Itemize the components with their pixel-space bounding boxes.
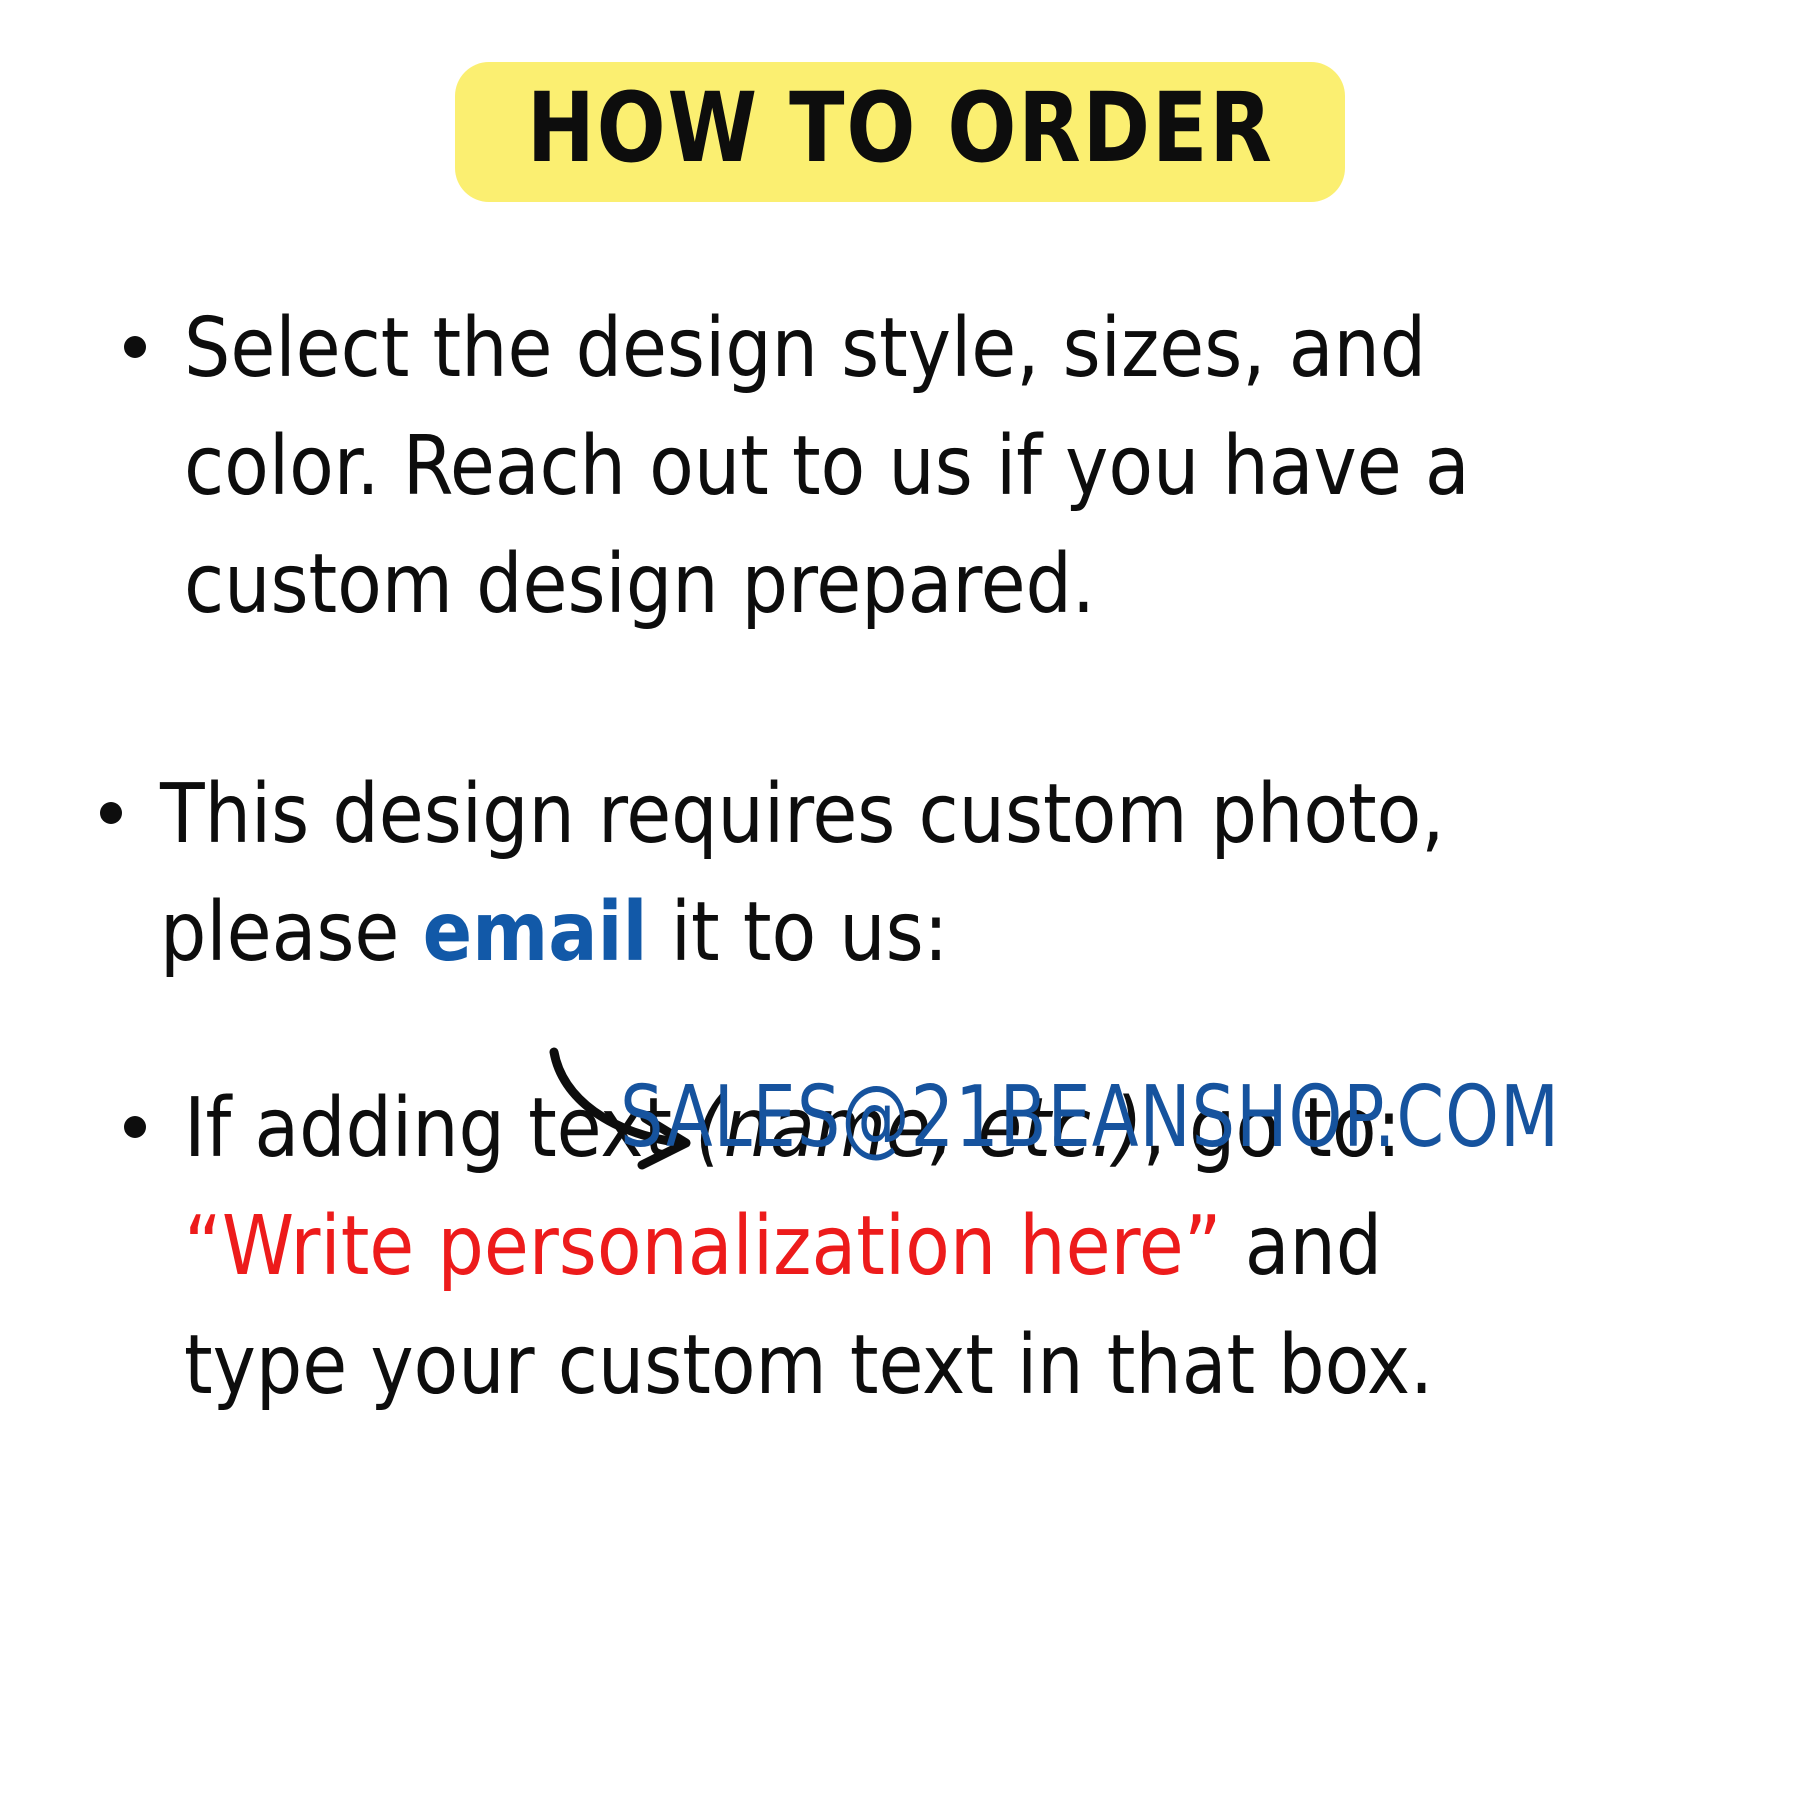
page-title: HOW TO ORDER — [527, 80, 1274, 176]
list-item-text-select-design: Select the design style, sizes, and colo… — [184, 290, 1487, 644]
custom-photo-text-after: it to us: — [648, 885, 949, 980]
email-callout: SALES@21BEANSHOP.COM — [0, 1046, 1800, 1176]
bullet-dot-icon — [124, 336, 146, 358]
bullet-dot-icon — [100, 802, 122, 824]
list-item: This design requires custom photo, pleas… — [0, 756, 1800, 992]
email-emphasis-word[interactable]: email — [423, 885, 648, 980]
instructions-list: Select the design style, sizes, and colo… — [0, 290, 1800, 1425]
list-item: Select the design style, sizes, and colo… — [0, 290, 1800, 644]
how-to-order-card: HOW TO ORDER Select the design style, si… — [0, 0, 1800, 1800]
email-address-link[interactable]: SALES@21BEANSHOP.COM — [620, 1067, 1560, 1167]
header: HOW TO ORDER — [0, 62, 1800, 202]
list-item-text-custom-photo: This design requires custom photo, pleas… — [160, 756, 1457, 992]
title-badge: HOW TO ORDER — [455, 62, 1346, 202]
write-personalization-here-label: “Write personalization here” — [184, 1199, 1222, 1294]
